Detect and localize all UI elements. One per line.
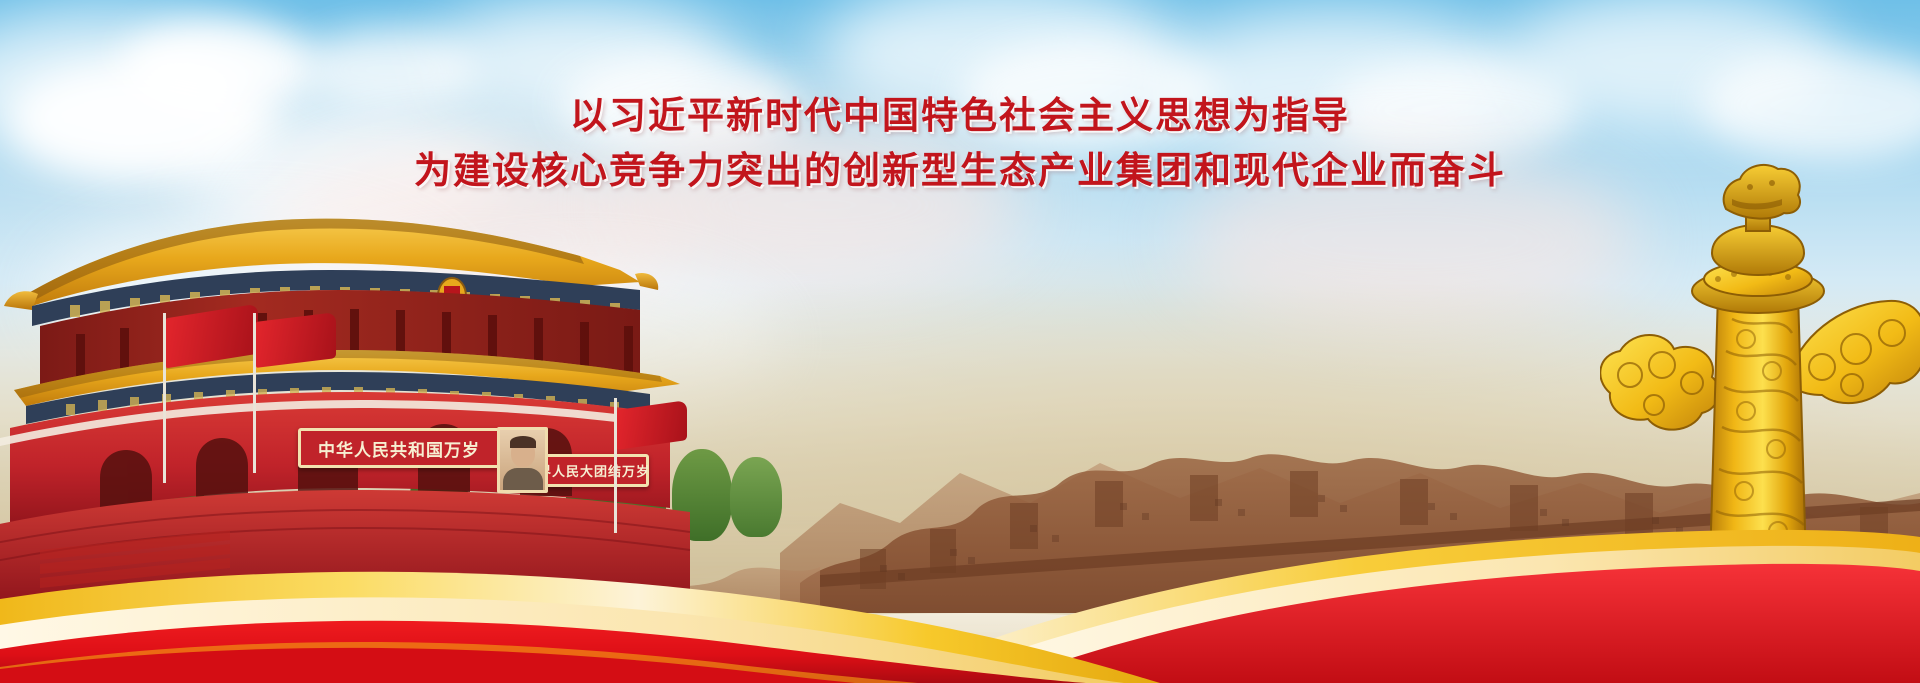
gate-sign-left: 中华人民共和国万岁 [298,428,500,468]
portrait-hair [510,436,536,448]
propaganda-banner: 中华人民共和国万岁 世界人民大团结万岁 [0,0,1920,683]
portrait-body [503,468,543,490]
chairman-portrait [497,427,548,493]
tiananmen-gate [0,178,740,608]
red-flag-left2 [256,312,336,368]
huabiao-column [1600,143,1920,563]
